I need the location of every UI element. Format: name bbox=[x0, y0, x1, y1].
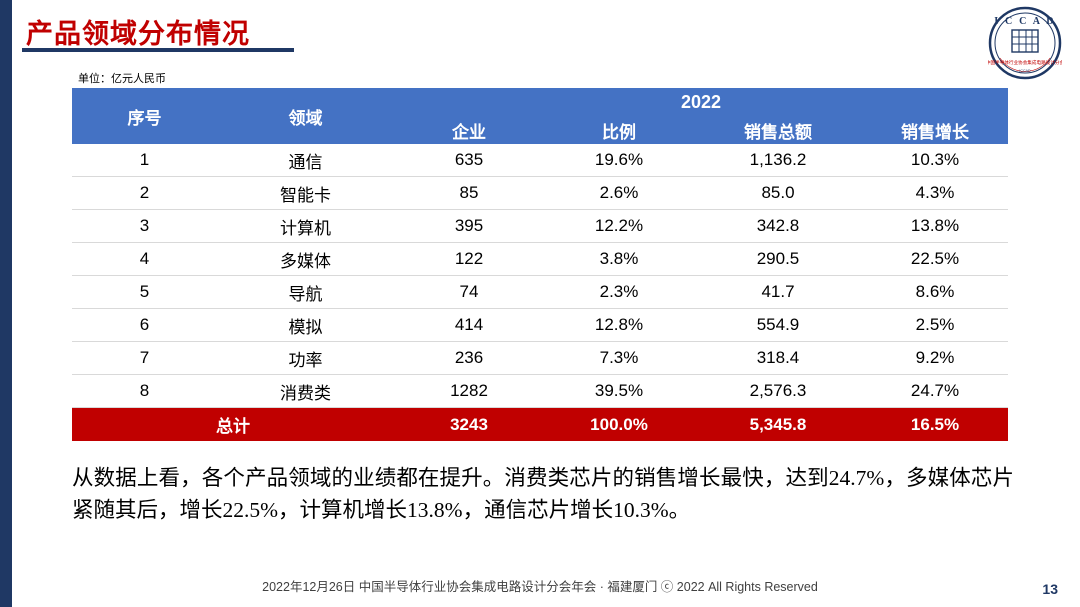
cell-field: 计算机 bbox=[217, 210, 394, 243]
cell-total-ratio: 100.0% bbox=[544, 408, 694, 442]
cell-sales: 85.0 bbox=[694, 177, 862, 210]
cell-companies: 395 bbox=[394, 210, 544, 243]
cell-sales: 1,136.2 bbox=[694, 144, 862, 177]
table-row: 2 智能卡 85 2.6% 85.0 4.3% bbox=[72, 177, 1008, 210]
cell-ratio: 12.8% bbox=[544, 309, 694, 342]
cell-sales: 342.8 bbox=[694, 210, 862, 243]
cell-companies: 1282 bbox=[394, 375, 544, 408]
cell-sales: 290.5 bbox=[694, 243, 862, 276]
svg-text:ICCAD: ICCAD bbox=[1019, 69, 1031, 73]
table-row: 4 多媒体 122 3.8% 290.5 22.5% bbox=[72, 243, 1008, 276]
table-total-row: 总计 3243 100.0% 5,345.8 16.5% bbox=[72, 408, 1008, 442]
table-body: 1 通信 635 19.6% 1,136.2 10.3% 2 智能卡 85 2.… bbox=[72, 144, 1008, 441]
cell-total-companies: 3243 bbox=[394, 408, 544, 442]
cell-no: 8 bbox=[72, 375, 217, 408]
cell-ratio: 39.5% bbox=[544, 375, 694, 408]
left-accent-bar bbox=[0, 0, 12, 607]
cell-ratio: 3.8% bbox=[544, 243, 694, 276]
cell-growth: 13.8% bbox=[862, 210, 1008, 243]
cell-growth: 24.7% bbox=[862, 375, 1008, 408]
cell-no: 2 bbox=[72, 177, 217, 210]
col-header-sales: 销售总额 bbox=[694, 116, 862, 144]
cell-companies: 635 bbox=[394, 144, 544, 177]
cell-growth: 4.3% bbox=[862, 177, 1008, 210]
table-row: 1 通信 635 19.6% 1,136.2 10.3% bbox=[72, 144, 1008, 177]
cell-growth: 10.3% bbox=[862, 144, 1008, 177]
table-row: 6 模拟 414 12.8% 554.9 2.5% bbox=[72, 309, 1008, 342]
cell-ratio: 12.2% bbox=[544, 210, 694, 243]
page-title: 产品领域分布情况 bbox=[26, 12, 250, 51]
col-header-year: 2022 bbox=[394, 88, 1008, 116]
page-number: 13 bbox=[1042, 581, 1058, 597]
cell-field: 通信 bbox=[217, 144, 394, 177]
col-header-ratio: 比例 bbox=[544, 116, 694, 144]
table-row: 8 消费类 1282 39.5% 2,576.3 24.7% bbox=[72, 375, 1008, 408]
cell-no: 6 bbox=[72, 309, 217, 342]
cell-growth: 22.5% bbox=[862, 243, 1008, 276]
cell-field: 功率 bbox=[217, 342, 394, 375]
cell-field: 导航 bbox=[217, 276, 394, 309]
cell-total-sales: 5,345.8 bbox=[694, 408, 862, 442]
cell-sales: 554.9 bbox=[694, 309, 862, 342]
cell-ratio: 2.6% bbox=[544, 177, 694, 210]
cell-no: 3 bbox=[72, 210, 217, 243]
svg-text:I C C A D: I C C A D bbox=[994, 16, 1055, 27]
table-header-row-group: 序号 领域 2022 bbox=[72, 88, 1008, 116]
cell-field: 智能卡 bbox=[217, 177, 394, 210]
col-header-growth: 销售增长 bbox=[862, 116, 1008, 144]
table-row: 5 导航 74 2.3% 41.7 8.6% bbox=[72, 276, 1008, 309]
table-row: 3 计算机 395 12.2% 342.8 13.8% bbox=[72, 210, 1008, 243]
table-row: 7 功率 236 7.3% 318.4 9.2% bbox=[72, 342, 1008, 375]
cell-companies: 414 bbox=[394, 309, 544, 342]
footer-text: 2022年12月26日 中国半导体行业协会集成电路设计分会年会 · 福建厦门 ⓒ… bbox=[0, 576, 1080, 595]
cell-field: 消费类 bbox=[217, 375, 394, 408]
cell-growth: 8.6% bbox=[862, 276, 1008, 309]
cell-field: 多媒体 bbox=[217, 243, 394, 276]
cell-ratio: 2.3% bbox=[544, 276, 694, 309]
cell-sales: 2,576.3 bbox=[694, 375, 862, 408]
cell-growth: 2.5% bbox=[862, 309, 1008, 342]
cell-no: 4 bbox=[72, 243, 217, 276]
cell-growth: 9.2% bbox=[862, 342, 1008, 375]
cell-sales: 318.4 bbox=[694, 342, 862, 375]
unit-label: 单位：亿元人民币 bbox=[78, 70, 166, 86]
cell-companies: 122 bbox=[394, 243, 544, 276]
cell-sales: 41.7 bbox=[694, 276, 862, 309]
cell-companies: 236 bbox=[394, 342, 544, 375]
slide: 产品领域分布情况 I C C A D 中国半导体行业协会集成电路设计分会 ICC… bbox=[0, 0, 1080, 607]
summary-paragraph: 从数据上看，各个产品领域的业绩都在提升。消费类芯片的销售增长最快，达到24.7%… bbox=[72, 462, 1014, 526]
cell-total-label: 总计 bbox=[72, 408, 394, 442]
col-header-no: 序号 bbox=[72, 88, 217, 144]
cell-no: 1 bbox=[72, 144, 217, 177]
cell-ratio: 7.3% bbox=[544, 342, 694, 375]
cell-field: 模拟 bbox=[217, 309, 394, 342]
cell-ratio: 19.6% bbox=[544, 144, 694, 177]
title-underline bbox=[22, 48, 294, 52]
cell-no: 5 bbox=[72, 276, 217, 309]
col-header-field: 领域 bbox=[217, 88, 394, 144]
iccad-logo: I C C A D 中国半导体行业协会集成电路设计分会 ICCAD bbox=[988, 6, 1062, 80]
cell-no: 7 bbox=[72, 342, 217, 375]
cell-companies: 85 bbox=[394, 177, 544, 210]
product-field-table: 序号 领域 2022 企业 比例 销售总额 销售增长 1 通信 635 19.6… bbox=[72, 88, 1008, 441]
svg-text:中国半导体行业协会集成电路设计分会: 中国半导体行业协会集成电路设计分会 bbox=[988, 59, 1062, 66]
cell-total-growth: 16.5% bbox=[862, 408, 1008, 442]
col-header-companies: 企业 bbox=[394, 116, 544, 144]
cell-companies: 74 bbox=[394, 276, 544, 309]
